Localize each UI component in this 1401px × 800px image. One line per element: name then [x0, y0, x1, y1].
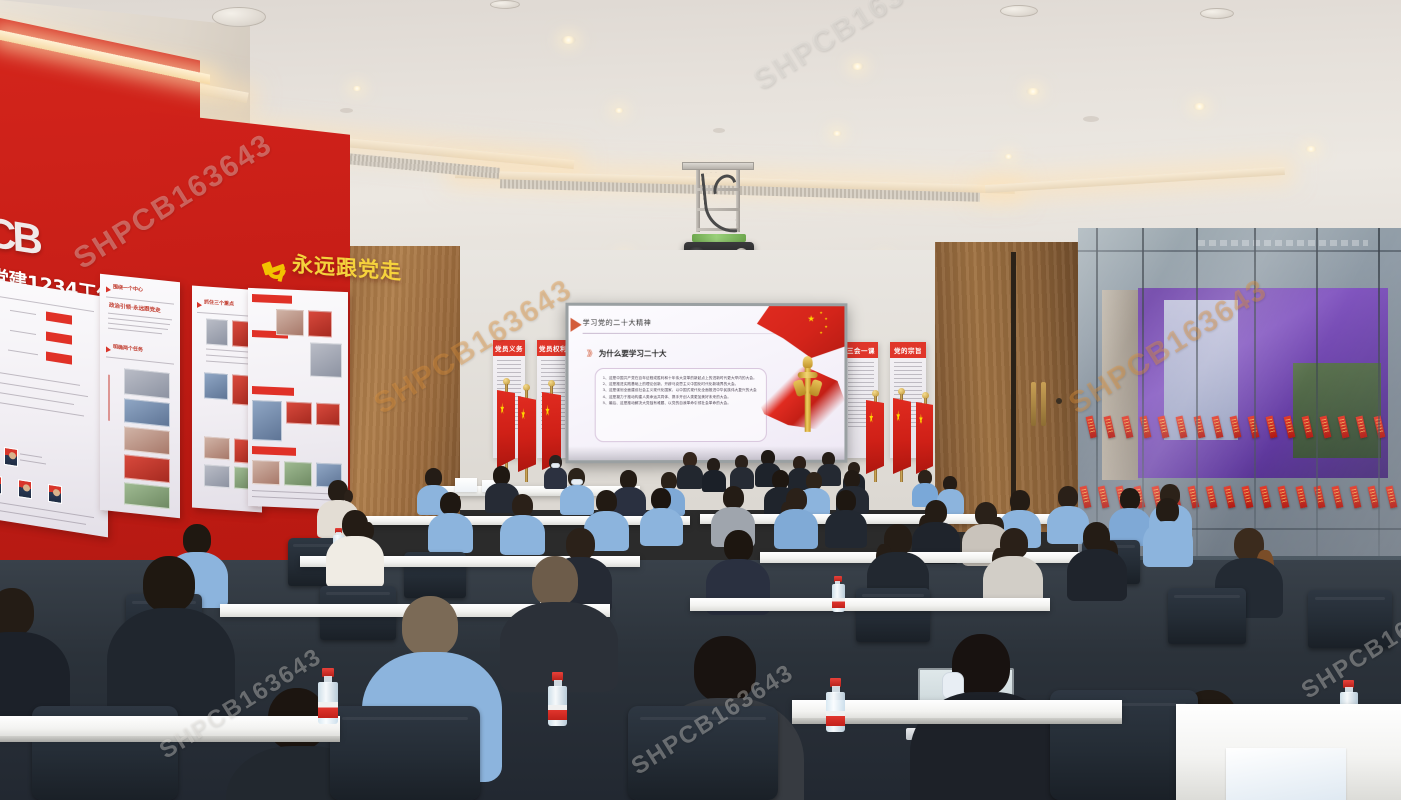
panel-photo: [204, 436, 230, 460]
downlight: [614, 108, 624, 113]
panel-heading-label: 三会一课: [847, 345, 875, 355]
panel-heading-label: 抓住三个重点: [204, 298, 234, 307]
china-flag: [893, 398, 911, 474]
panel-photo: [276, 309, 304, 336]
chair[interactable]: [1308, 590, 1392, 648]
door-handle[interactable]: [1031, 382, 1036, 426]
panel-heading-label: 党员义务: [495, 343, 523, 353]
ceiling-fitting: [713, 128, 725, 133]
panel-heading-label: 党员权利: [539, 343, 567, 353]
panel-photo: [308, 310, 332, 337]
china-flag: [497, 390, 515, 468]
arrow-right-icon: [106, 346, 111, 353]
projection-screen: 学习党的二十大精神 》》 为什么要学习二十大 1、这是中国共产党在百年征程或胜利…: [566, 303, 848, 464]
member-portrait: [4, 447, 18, 467]
slide-bullet: 3、这是谋划全面建设社会主义现代化国家、以中国式现代化全面推进中华民族伟大复兴的…: [603, 387, 759, 393]
exhibit-panel-one-center: 围绕一个中心 政治引领·永远跟党走 明确两个任务: [100, 274, 180, 518]
chair[interactable]: [1168, 588, 1246, 644]
banner-row: [1078, 416, 1401, 440]
panel-photo: [310, 343, 342, 378]
panel-photo: [124, 426, 170, 455]
arrow-right-icon: [197, 302, 202, 308]
panel-heading: 三会一课: [844, 342, 878, 358]
panel-photo: [204, 372, 228, 400]
ceiling-fitting: [340, 108, 353, 113]
huabiao-monument-graphic: [799, 356, 817, 432]
honor-tag: [46, 352, 72, 365]
section-tag: [252, 446, 296, 456]
panel-photo: [124, 454, 170, 483]
conference-room-photo: 党员义务 党员权利 三会一课 党的宗旨: [0, 0, 1401, 800]
flag-star-icon: [820, 311, 823, 314]
panel-photo: [204, 464, 230, 488]
lobby-column: [1102, 290, 1138, 480]
document-sheet: [455, 478, 477, 492]
china-flag: [518, 396, 536, 472]
section-tag: [252, 386, 294, 396]
member-portrait: [48, 484, 62, 504]
chair[interactable]: [628, 706, 778, 800]
water-bottle[interactable]: [826, 678, 845, 732]
projector-lift-arm: [696, 170, 700, 232]
flag-star-icon: [808, 315, 815, 322]
monument-disc: [798, 372, 818, 378]
door-handle[interactable]: [1041, 382, 1046, 426]
china-flag: [866, 400, 884, 474]
chevron-right-icon: 》》: [587, 348, 595, 359]
chair[interactable]: [856, 588, 930, 642]
projector-mount-plate: [682, 162, 754, 170]
slide-bullet: 5、最后、这是推动解决大党独有难题、以党的自我革命引领社会革命的大会。: [603, 400, 759, 406]
china-flag: [916, 402, 933, 474]
chair[interactable]: [330, 706, 480, 800]
panel-heading-label: 围绕一个中心: [113, 283, 143, 293]
member-portrait: [18, 479, 32, 499]
exhibit-panel-honors: [0, 279, 108, 538]
flag-star-icon: [825, 317, 828, 320]
honor-tag: [46, 332, 72, 345]
section-tag: [252, 294, 292, 304]
exhibit-panel-activities: [248, 288, 348, 510]
water-bottle[interactable]: [318, 668, 338, 724]
conference-table: [0, 716, 340, 738]
panel-heading: 党员权利: [537, 340, 569, 356]
door-frame: [1011, 252, 1016, 527]
conference-table: [760, 552, 1090, 563]
arrow-right-icon: [106, 286, 111, 293]
honor-tag: [46, 312, 72, 325]
ceiling-speaker: [1200, 8, 1234, 19]
slide-subtitle: 为什么要学习二十大: [599, 348, 667, 359]
panel-photo: [124, 368, 170, 399]
downlight: [561, 36, 576, 44]
monument-top: [803, 356, 813, 368]
ceiling-speaker: [1000, 5, 1038, 17]
flag-star-icon: [825, 325, 828, 328]
panel-photo: [206, 319, 228, 347]
downlight: [1193, 103, 1206, 110]
panel-photo: [252, 400, 282, 441]
projector-cradle: [692, 234, 746, 242]
panel-sub-label: 政治引领·永远跟党走: [109, 301, 161, 314]
slide-subtitle-row: 》》 为什么要学习二十大: [587, 348, 667, 359]
ceiling-fitting: [1083, 116, 1099, 122]
panel-photo: [124, 482, 170, 509]
downlight: [1004, 154, 1013, 159]
flag-star-icon: [820, 331, 823, 334]
panel-heading: 党员义务: [493, 340, 525, 356]
downlight: [352, 86, 362, 91]
panel-photo: [316, 403, 340, 426]
panel-photo: [286, 401, 312, 424]
panel-heading-label: 党的宗旨: [894, 345, 922, 355]
panel-heading-label: 明确两个任务: [113, 343, 143, 353]
downlight: [832, 131, 842, 136]
conference-table: [690, 598, 1050, 611]
downlight: [1305, 146, 1317, 152]
slide-bullet-box: 1、这是中国共产党在百年征程或胜利和十年伟大变革的新起点上的进新时代更大举内的大…: [595, 368, 767, 442]
document-sheet[interactable]: [1226, 748, 1346, 800]
member-portrait: [0, 474, 2, 494]
panel-photo: [252, 460, 280, 485]
downlight: [1026, 88, 1040, 95]
presentation-slide: 学习党的二十大精神 》》 为什么要学习二十大 1、这是中国共产党在百年征程或胜利…: [569, 306, 845, 461]
water-bottle[interactable]: [548, 672, 567, 726]
door-lock-icon: [1056, 398, 1062, 404]
panel-heading: 党的宗旨: [890, 342, 926, 358]
projector-lift-arm: [736, 170, 740, 232]
panel-photo: [284, 461, 312, 486]
panel-photo: [124, 398, 170, 427]
water-bottle[interactable]: [832, 576, 845, 612]
lobby-foliage: [1293, 363, 1381, 458]
party-emblem-icon: [261, 257, 291, 285]
glass-etched-text: [1198, 240, 1368, 246]
downlight: [851, 63, 864, 70]
table-edge: [0, 736, 340, 742]
ceiling-speaker: [490, 0, 520, 9]
slide-title-marker-icon: [571, 318, 582, 332]
company-logo: CB: [0, 208, 39, 265]
ceiling-speaker: [212, 7, 266, 27]
